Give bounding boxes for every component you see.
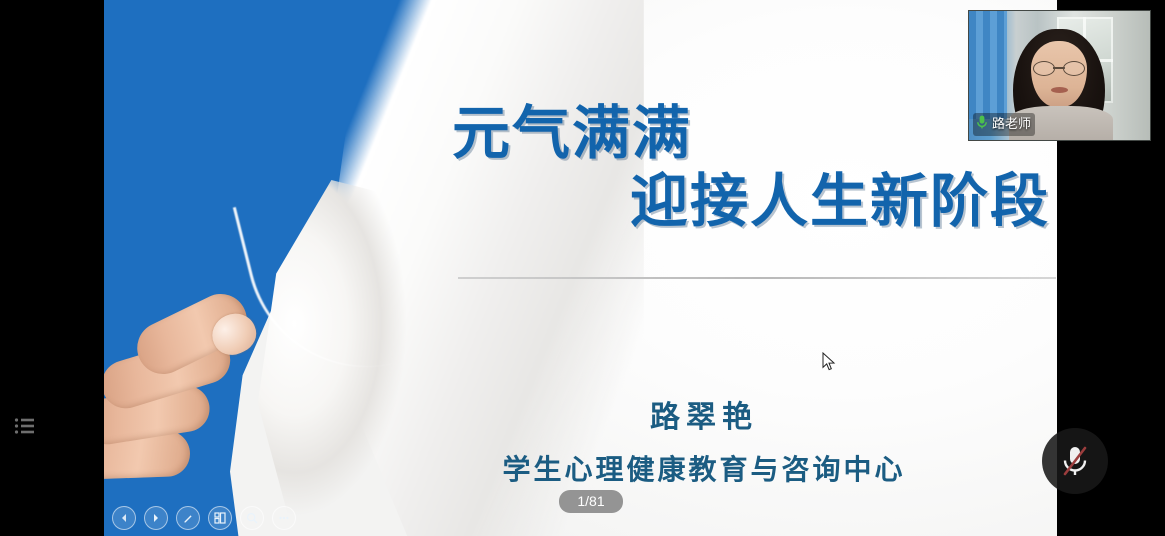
presenter-block: 路翠艳 学生心理健康教育与咨询中心	[354, 400, 1054, 488]
list-icon	[13, 414, 37, 438]
presenter-name: 路翠艳	[354, 400, 1054, 436]
participant-glasses	[1033, 61, 1085, 74]
zoom-search-button[interactable]	[240, 506, 264, 530]
slide-title-line-2: 迎接人生新阶段	[354, 172, 1054, 232]
title-divider	[458, 277, 1056, 279]
toggle-mute-button[interactable]	[1042, 428, 1108, 494]
participant-name-text: 路老师	[992, 116, 1031, 132]
pen-icon	[181, 511, 195, 525]
layout-grid-icon	[213, 511, 227, 525]
previous-slide-button[interactable]	[112, 506, 136, 530]
slide-title-line-1: 元气满满	[354, 104, 1054, 164]
microphone-muted-icon	[1058, 442, 1092, 480]
slide-title: 元气满满 迎接人生新阶段	[354, 104, 1054, 231]
more-options-button[interactable]	[272, 506, 296, 530]
video-curtain	[969, 11, 1007, 119]
participant-name-label: 路老师	[973, 113, 1035, 136]
left-rail	[0, 0, 104, 536]
presenter-organization: 学生心理健康教育与咨询中心	[354, 454, 1054, 488]
slide-layout-button[interactable]	[208, 506, 232, 530]
annotate-pen-button[interactable]	[176, 506, 200, 530]
slide-list-button[interactable]	[8, 408, 42, 444]
hand-illustration	[104, 300, 300, 536]
chevron-left-icon	[117, 511, 131, 525]
microphone-icon	[975, 114, 989, 135]
chevron-right-icon	[149, 511, 163, 525]
slide-toolbar	[108, 504, 300, 532]
next-slide-button[interactable]	[144, 506, 168, 530]
presentation-viewer-screen: 元气满满 迎接人生新阶段 路翠艳 学生心理健康教育与咨询中心 1/81	[0, 0, 1165, 536]
participant-video-tile[interactable]: 路老师	[968, 10, 1151, 141]
magnifier-icon	[245, 511, 259, 525]
slide-canvas[interactable]: 元气满满 迎接人生新阶段 路翠艳 学生心理健康教育与咨询中心 1/81	[104, 0, 1057, 536]
ellipsis-icon	[277, 511, 291, 525]
participant-mouth	[1051, 87, 1068, 93]
page-indicator: 1/81	[559, 490, 623, 513]
